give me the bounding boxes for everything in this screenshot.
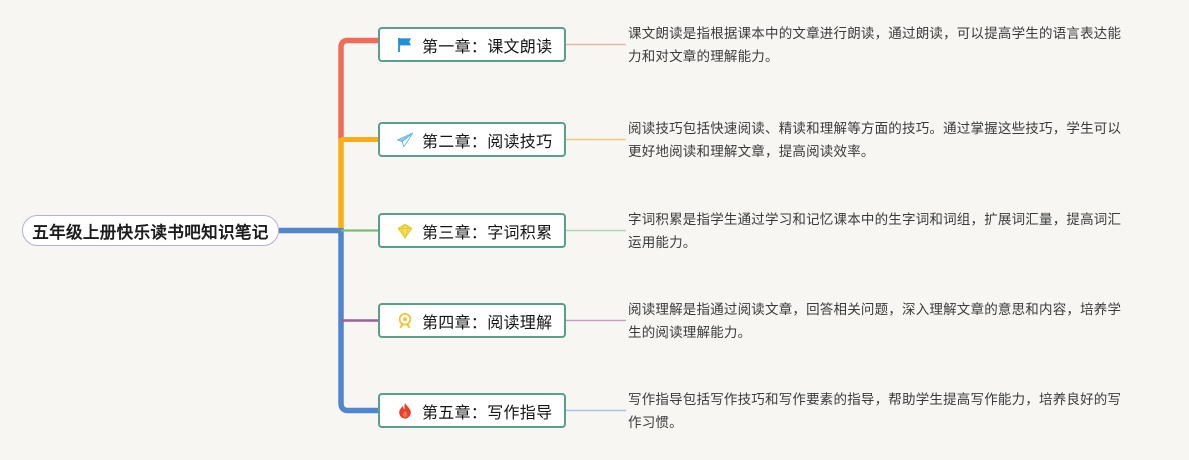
description-chapter-5: 写作指导包括写作技巧和写作要素的指导，帮助学生提高写作能力，培养良好的写作习惯。 [628, 388, 1134, 434]
root-node[interactable]: 五年级上册快乐读书吧知识笔记 [22, 215, 279, 246]
node-chapter-4-label: 第四章：阅读理解 [422, 309, 552, 333]
yellow-gem-icon [394, 220, 415, 241]
blue-flag-icon [394, 34, 415, 55]
node-chapter-4[interactable]: 第四章：阅读理解 [378, 303, 566, 338]
node-chapter-5[interactable]: 第五章：写作指导 [378, 393, 566, 428]
root-node-label: 五年级上册快乐读书吧知识笔记 [32, 219, 269, 243]
red-flame-icon [394, 400, 415, 421]
node-chapter-1-label: 第一章：课文朗读 [422, 33, 552, 57]
node-chapter-1[interactable]: 第一章：课文朗读 [378, 27, 566, 62]
description-chapter-3: 字词积累是指学生通过学习和记忆课本中的生字词和词组，扩展词汇量，提高词汇运用能力… [628, 208, 1134, 254]
description-chapter-4: 阅读理解是指通过阅读文章，回答相关问题，深入理解文章的意思和内容，培养学生的阅读… [628, 298, 1134, 344]
node-chapter-2-label: 第二章：阅读技巧 [422, 128, 552, 152]
mindmap-canvas: 五年级上册快乐读书吧知识笔记 第一章：课文朗读 第二章：阅读技巧 [0, 0, 1189, 460]
description-chapter-1: 课文朗读是指根据课本中的文章进行朗读，通过朗读，可以提高学生的语言表达能力和对文… [628, 22, 1134, 68]
node-chapter-2[interactable]: 第二章：阅读技巧 [378, 122, 566, 157]
gold-medal-icon [394, 310, 415, 331]
trunk-segment-top [341, 41, 378, 141]
trunk-segment-bottom [341, 228, 378, 411]
node-chapter-5-label: 第五章：写作指导 [422, 399, 552, 423]
node-chapter-3[interactable]: 第三章：字词积累 [378, 213, 566, 248]
paper-plane-icon [394, 129, 415, 150]
node-chapter-3-label: 第三章：字词积累 [422, 219, 552, 243]
description-chapter-2: 阅读技巧包括快速阅读、精读和理解等方面的技巧。通过掌握这些技巧，学生可以更好地阅… [628, 117, 1134, 163]
